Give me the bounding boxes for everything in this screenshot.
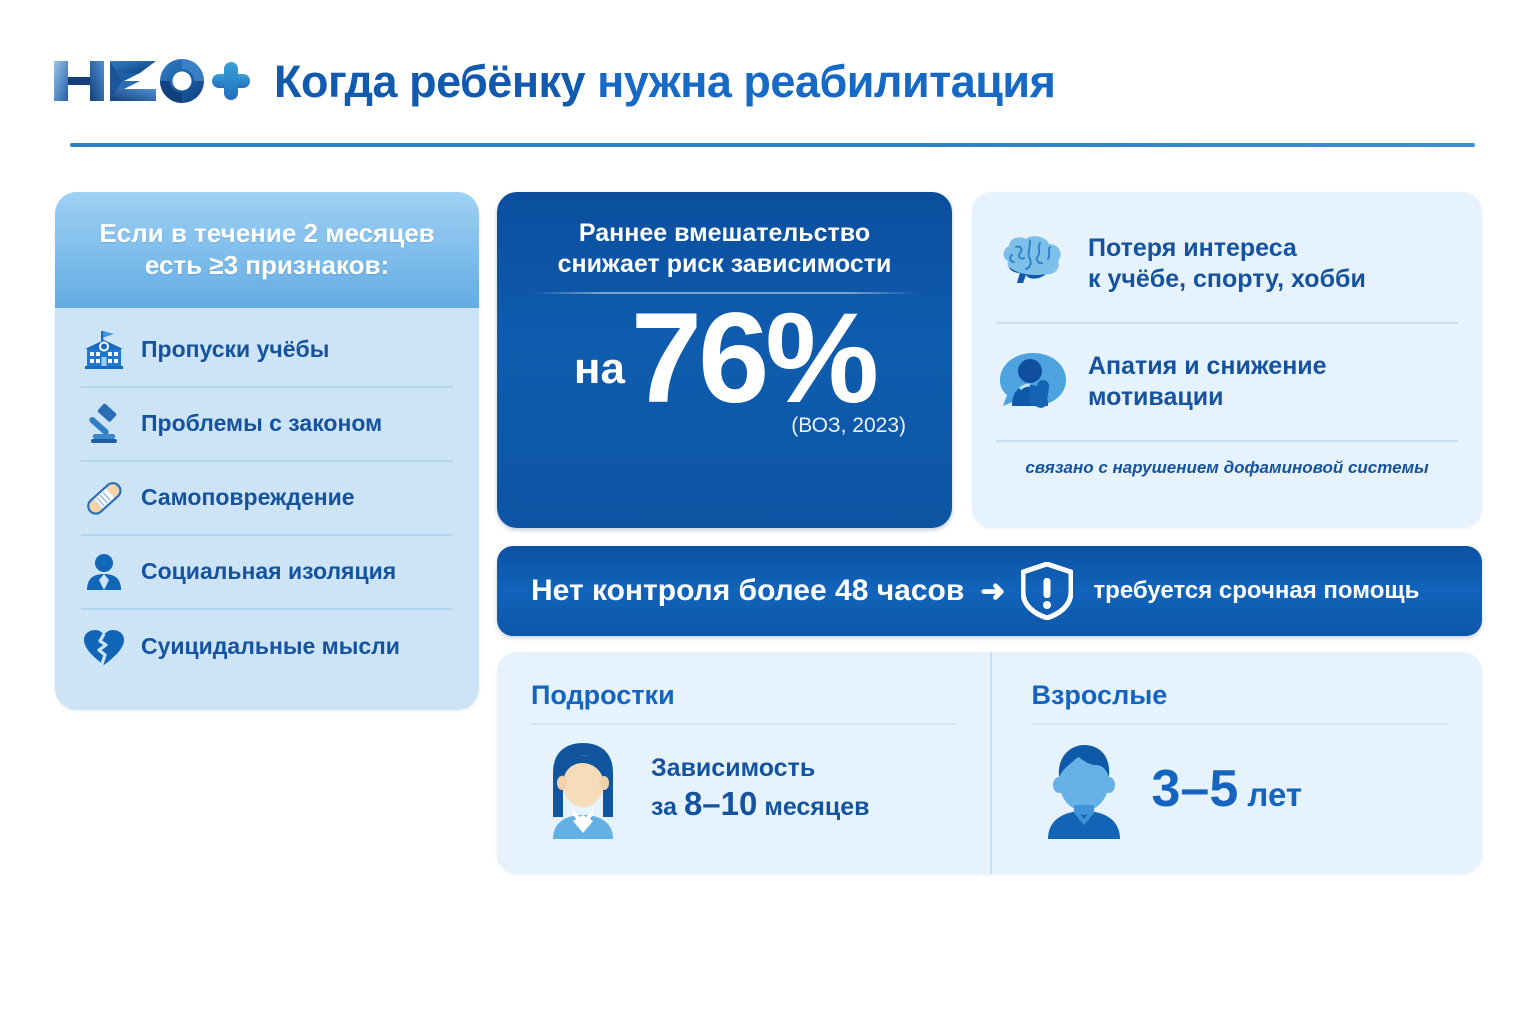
brain-icon bbox=[996, 231, 1070, 297]
signs-card-header: Если в течение 2 месяцев есть ≥3 признак… bbox=[55, 192, 479, 308]
header-divider bbox=[70, 143, 1475, 147]
signs-heading-line2: есть ≥3 признаков: bbox=[145, 250, 389, 282]
list-item[interactable]: Социальная изоляция bbox=[81, 536, 453, 610]
symptom-row[interactable]: Потеря интереса к учёбе, спорту, хобби bbox=[996, 206, 1458, 324]
list-item[interactable]: Проблемы с законом bbox=[81, 388, 453, 462]
symptom-text: Потеря интереса к учёбе, спорту, хобби bbox=[1088, 233, 1366, 296]
teens-prefix: за bbox=[651, 793, 684, 821]
teens-line2: за 8–10 месяцев bbox=[651, 783, 870, 824]
comparison-column-teens: Подростки Зависимость bbox=[497, 652, 990, 874]
page-title: Когда ребёнку нужна реабилитация bbox=[274, 59, 1055, 104]
symptom-row[interactable]: Апатия и снижение мотивации bbox=[996, 324, 1458, 442]
banner-tail-text: требуется срочная помощь bbox=[1093, 577, 1419, 605]
comparison-divider bbox=[1032, 723, 1449, 725]
comparison-text-adults: 3–5 лет bbox=[1152, 759, 1303, 819]
infographic-root: Когда ребёнку нужна реабилитация Если в … bbox=[0, 0, 1536, 1024]
signs-heading-line1: Если в течение 2 месяцев bbox=[99, 218, 434, 250]
list-item-label: Социальная изоляция bbox=[141, 559, 396, 584]
page-title-strong: Когда ребёнку bbox=[274, 56, 585, 107]
comparison-title-teens: Подростки bbox=[531, 680, 956, 711]
stat-prefix: на bbox=[574, 344, 625, 418]
bandage-icon bbox=[81, 475, 127, 521]
comparison-title-adults: Взрослые bbox=[1032, 680, 1449, 711]
school-icon bbox=[81, 327, 127, 373]
symptoms-card: Потеря интереса к учёбе, спорту, хобби А… bbox=[972, 192, 1482, 528]
alert-shield-icon bbox=[1021, 562, 1073, 620]
symptom-line2: мотивации bbox=[1088, 383, 1223, 411]
page-header: Когда ребёнку нужна реабилитация bbox=[52, 48, 1482, 114]
comparison-text-teens: Зависимость за 8–10 месяцев bbox=[651, 753, 870, 824]
list-item[interactable]: Пропуски учёбы bbox=[81, 314, 453, 388]
signs-card: Если в течение 2 месяцев есть ≥3 признак… bbox=[55, 192, 479, 710]
symptom-line2: к учёбе, спорту, хобби bbox=[1088, 265, 1366, 293]
stat-card: Раннее вмешательство снижает риск зависи… bbox=[497, 192, 952, 528]
comparison-column-adults: Взрослые 3–5 лет bbox=[990, 652, 1483, 874]
symptom-line1: Потеря интереса bbox=[1088, 234, 1297, 262]
symptom-line1: Апатия и снижение bbox=[1088, 352, 1327, 380]
neo-plus-logo bbox=[52, 55, 252, 107]
list-item[interactable]: Суицидальные мысли bbox=[81, 610, 453, 684]
teens-suffix: месяцев bbox=[757, 793, 869, 821]
adult-man-avatar bbox=[1032, 735, 1136, 843]
list-item-label: Суицидальные мысли bbox=[141, 634, 400, 659]
teens-value: 8–10 bbox=[684, 785, 757, 822]
teen-girl-avatar bbox=[531, 735, 635, 843]
comparison-card: Подростки Зависимость bbox=[497, 652, 1482, 874]
banner-strong-text: Нет контроля более 48 часов bbox=[531, 574, 964, 608]
adults-unit: лет bbox=[1238, 776, 1302, 813]
stat-heading-line1: Раннее вмешательство bbox=[521, 218, 928, 249]
stat-card-heading: Раннее вмешательство снижает риск зависи… bbox=[497, 192, 952, 280]
signs-list: Пропуски учёбы Проблемы с законом bbox=[55, 308, 479, 694]
urgent-banner: Нет контроля более 48 часов ➜ требуется … bbox=[497, 546, 1482, 636]
teens-line1: Зависимость bbox=[651, 753, 870, 783]
stat-value-row: на 76% bbox=[497, 300, 952, 418]
list-item-label: Пропуски учёбы bbox=[141, 337, 329, 362]
list-item-label: Самоповреждение bbox=[141, 485, 355, 510]
apathy-person-icon bbox=[996, 349, 1070, 415]
comparison-divider bbox=[531, 723, 956, 725]
stat-value: 76% bbox=[631, 300, 875, 418]
gavel-icon bbox=[81, 401, 127, 447]
adults-value: 3–5 bbox=[1152, 760, 1239, 818]
page-title-rest: нужна реабилитация bbox=[585, 56, 1055, 107]
broken-heart-icon bbox=[81, 624, 127, 670]
stat-heading-line2: снижает риск зависимости bbox=[521, 249, 928, 280]
list-item-label: Проблемы с законом bbox=[141, 411, 382, 436]
list-item[interactable]: Самоповреждение bbox=[81, 462, 453, 536]
symptoms-note: связано с нарушением дофаминовой системы bbox=[996, 442, 1458, 478]
symptom-text: Апатия и снижение мотивации bbox=[1088, 351, 1327, 414]
person-icon bbox=[81, 549, 127, 595]
arrow-right-icon: ➜ bbox=[978, 574, 1007, 609]
